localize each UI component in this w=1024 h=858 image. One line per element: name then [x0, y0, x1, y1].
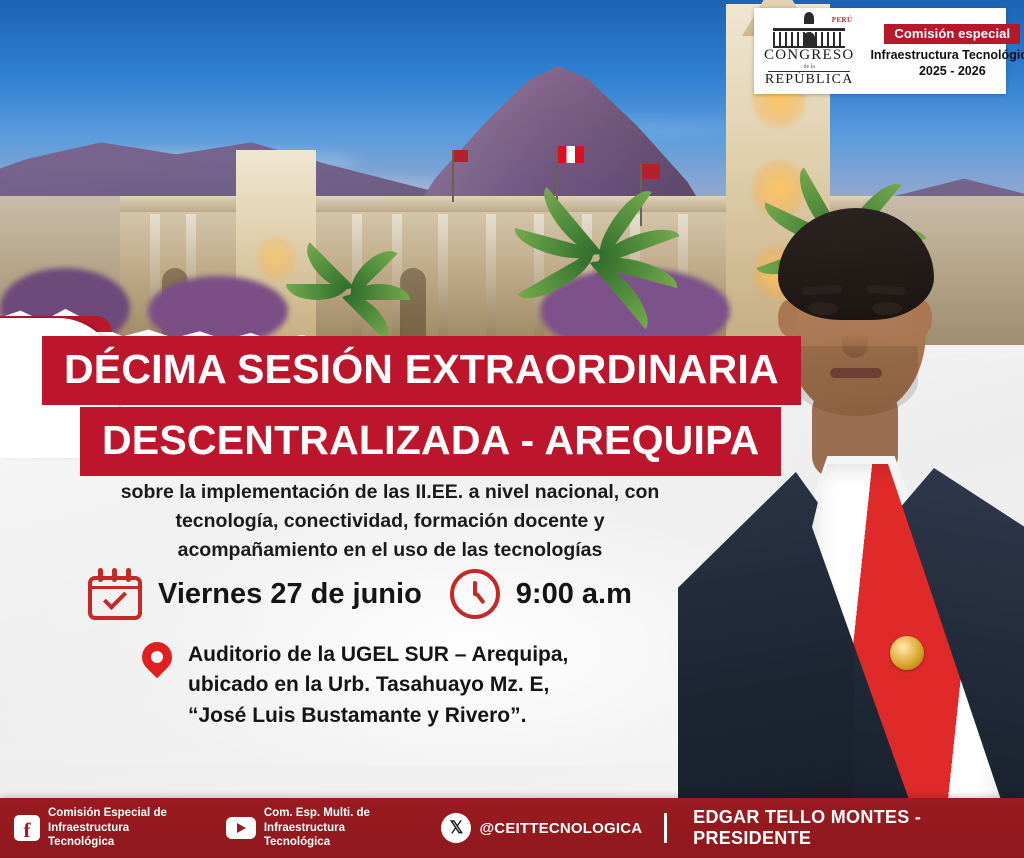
x-handle: @CEITTECNOLOGICA — [479, 820, 642, 837]
congress-of-peru-logo: PERÚ CONGRESO de la REPÚBLICA — [764, 14, 854, 87]
mouth — [830, 368, 882, 378]
footer-x-twitter[interactable]: 𝕏 @CEITTECNOLOGICA — [441, 813, 642, 843]
sash-emblem — [890, 636, 924, 670]
nose — [842, 316, 868, 358]
facebook-label-line-2: Infraestructura Tecnológica — [48, 821, 188, 850]
congress-building-icon: PERÚ — [764, 14, 854, 48]
subtitle-line-3: acompañamiento en el uso de las tecnolog… — [60, 536, 720, 565]
commission-badge-texts: Comisión especial Infraestructura Tecnol… — [870, 24, 1024, 78]
date-time-row: Viernes 27 de junio 9:00 a.m — [88, 568, 632, 620]
facebook-icon[interactable]: f — [14, 815, 40, 841]
hair — [778, 208, 934, 320]
subtitle-line-1: sobre la implementación de las II.EE. a … — [60, 478, 720, 507]
dela-text: de la — [764, 64, 854, 70]
poster-subtitle: sobre la implementación de las II.EE. a … — [60, 478, 720, 565]
red-flag-icon — [642, 164, 660, 179]
commission-period: 2025 - 2026 — [870, 64, 1024, 78]
title-line-2: DESCENTRALIZADA - AREQUIPA — [80, 407, 781, 476]
portrait-edgar-tello-montes — [694, 150, 1024, 858]
commission-subtitle: Infraestructura Tecnológica — [870, 48, 1024, 62]
calendar-check-icon — [88, 568, 142, 620]
event-time: 9:00 a.m — [516, 578, 632, 611]
youtube-label-line-1: Com. Esp. Multi. de — [264, 806, 404, 820]
play-triangle-icon — [237, 823, 246, 833]
location-line-3: “José Luis Bustamante y Rivero”. — [188, 701, 568, 731]
republica-text: REPÚBLICA — [764, 73, 854, 88]
bougainvillea — [148, 276, 288, 345]
cathedral-column — [486, 214, 496, 344]
cathedral-arch — [400, 268, 426, 344]
x-glyph: 𝕏 — [441, 813, 471, 843]
peru-flag-icon — [558, 146, 584, 163]
youtube-label-line-2: Infraestructura Tecnológica — [264, 821, 404, 850]
footer-divider — [664, 813, 667, 843]
eye-left — [808, 302, 838, 315]
title-line-1: DÉCIMA SESIÓN EXTRAORDINARIA — [42, 336, 801, 405]
x-twitter-icon[interactable]: 𝕏 — [441, 813, 471, 843]
facebook-label: Comisión Especial de Infraestructura Tec… — [48, 806, 188, 849]
facebook-glyph: f — [14, 815, 40, 841]
subtitle-line-2: tecnología, conectividad, formación doce… — [60, 507, 720, 536]
tower-light-glow — [256, 236, 296, 280]
location-line-2: ubicado en la Urb. Tasahuayo Mz. E, — [188, 670, 568, 700]
location-line-1: Auditorio de la UGEL SUR – Arequipa, — [188, 640, 568, 670]
youtube-label: Com. Esp. Multi. de Infraestructura Tecn… — [264, 806, 404, 849]
map-pin-icon — [140, 642, 174, 688]
eye-right — [872, 302, 902, 315]
event-date: Viernes 27 de junio — [158, 578, 422, 611]
footer-facebook[interactable]: f Comisión Especial de Infraestructura T… — [14, 806, 188, 849]
commission-pill: Comisión especial — [884, 24, 1020, 44]
president-name: EDGAR TELLO MONTES - PRESIDENTE — [693, 807, 1024, 849]
cathedral-column — [438, 214, 448, 344]
congress-commission-logo-badge: PERÚ CONGRESO de la REPÚBLICA Comisión e… — [754, 8, 1006, 94]
footer-youtube[interactable]: Com. Esp. Multi. de Infraestructura Tecn… — [226, 806, 404, 849]
facebook-label-line-1: Comisión Especial de — [48, 806, 188, 820]
clock-icon — [450, 569, 500, 619]
peru-label: PERÚ — [832, 16, 853, 24]
red-flag-icon — [454, 150, 468, 162]
event-location: Auditorio de la UGEL SUR – Arequipa, ubi… — [188, 640, 568, 731]
footer-bar: f Comisión Especial de Infraestructura T… — [0, 798, 1024, 858]
congreso-text: CONGRESO — [764, 48, 854, 64]
location-row: Auditorio de la UGEL SUR – Arequipa, ubi… — [140, 640, 568, 731]
poster-title: DÉCIMA SESIÓN EXTRAORDINARIA DESCENTRALI… — [0, 336, 800, 476]
youtube-icon[interactable] — [226, 817, 256, 839]
event-poster: PERÚ CONGRESO de la REPÚBLICA Comisión e… — [0, 0, 1024, 858]
building-door-icon — [803, 32, 815, 48]
